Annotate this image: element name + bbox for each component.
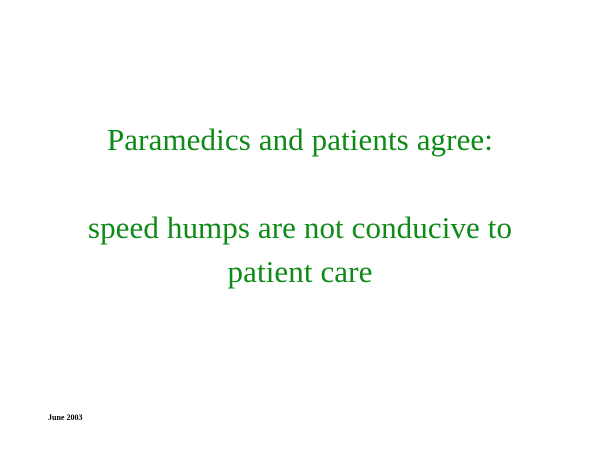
body-line-3: patient care: [30, 250, 570, 294]
body-line-2: speed humps are not conducive to: [30, 206, 570, 250]
slide-body-text: Paramedics and patients agree: speed hum…: [30, 118, 570, 294]
body-line-blank: [30, 162, 570, 206]
footer-date: June 2003: [48, 413, 82, 423]
slide-canvas: Paramedics and patients agree: speed hum…: [0, 0, 600, 450]
body-line-1: Paramedics and patients agree:: [30, 118, 570, 162]
